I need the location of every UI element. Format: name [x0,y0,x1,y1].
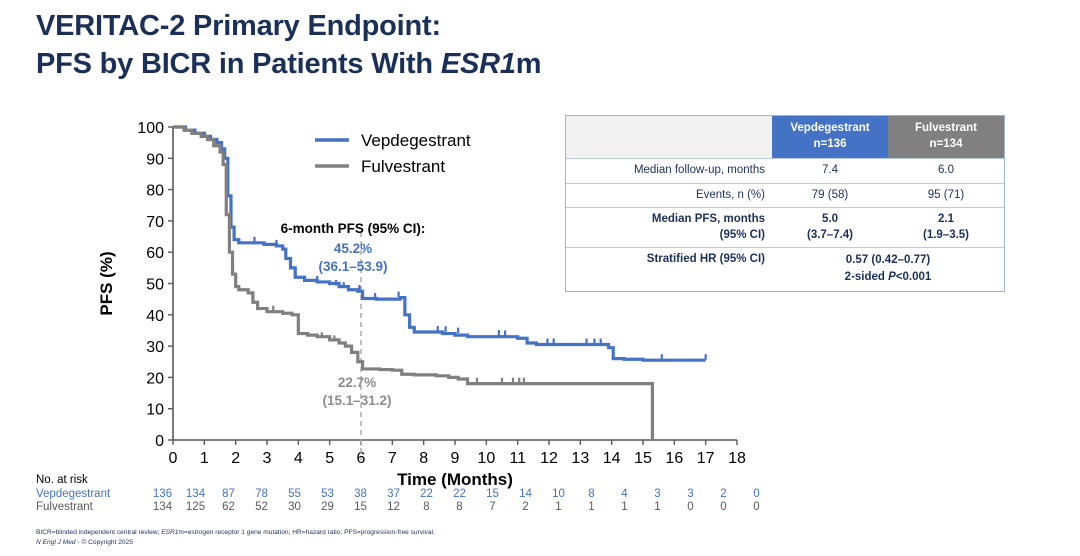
risk-value: 30 [278,501,311,513]
row-label-median-pfs-line2: (95% CI) [720,229,765,241]
risk-value: 53 [311,488,344,500]
p-value-italic: P [888,271,896,283]
row-label-median-pfs-line1: Median PFS, months [652,213,765,225]
risk-value: 2 [509,501,542,513]
y-tick-label: 20 [146,370,164,387]
y-axis-label: PFS (%) [97,251,116,315]
number-at-risk-title: No. at risk [36,474,773,486]
risk-value: 125 [179,501,212,513]
footnote-mid: m=estrogen receptor 1 gene mutation; HR=… [178,529,434,536]
risk-value: 12 [377,501,410,513]
risk-value: 62 [212,501,245,513]
risk-value: 15 [476,488,509,500]
risk-value: 15 [344,501,377,513]
legend-label-vepdegestrant: Vepdegestrant [361,131,471,150]
risk-value: 22 [443,488,476,500]
risk-value: 8 [410,501,443,513]
ful-six-month-value: 22.7% [338,375,376,390]
x-tick-label: 7 [388,450,397,467]
risk-value: 3 [641,488,674,500]
x-tick-label: 12 [540,450,558,467]
risk-value: 8 [443,501,476,513]
x-tick-label: 5 [325,450,334,467]
x-tick-label: 0 [169,450,178,467]
y-tick-label: 0 [155,433,164,450]
row-value-median-followup-ful: 6.0 [888,159,1004,183]
x-tick-label: 14 [603,450,621,467]
y-tick-label: 80 [146,183,164,200]
x-tick-label: 1 [200,450,209,467]
vep-six-month-value: 45.2% [334,241,372,256]
summary-header-fulvestrant: Fulvestrant n=134 [888,116,1004,158]
row-label-events: Events, n (%) [566,184,772,208]
row-label-stratified-hr: Stratified HR (95% CI) [566,248,772,291]
vep-header-name: Vepdegestrant [790,122,869,134]
y-tick-label: 90 [146,151,164,168]
risk-value: 1 [641,501,674,513]
row-value-median-pfs-vep: 5.0 (3.7–7.4) [772,208,888,247]
x-tick-label: 3 [263,450,272,467]
risk-value: 29 [311,501,344,513]
risk-row-label-vepdegestrant: Vepdegestrant [36,488,146,500]
y-tick-label: 10 [146,402,164,419]
legend-label-fulvestrant: Fulvestrant [361,157,445,176]
y-tick-label: 30 [146,339,164,356]
risk-value: 0 [707,501,740,513]
risk-value: 37 [377,488,410,500]
risk-value: 134 [146,501,179,513]
median-pfs-vep-ci: (3.7–7.4) [807,229,853,241]
p-value-post: <0.001 [896,271,932,283]
risk-values-fulvestrant: 13412562523029151288721111000 [146,501,773,513]
six-month-pfs-heading: 6-month PFS (95% CI): [281,221,426,236]
risk-value: 2 [707,488,740,500]
risk-value: 10 [542,488,575,500]
x-tick-label: 9 [451,450,460,467]
summary-row-events: Events, n (%) 79 (58) 95 (71) [566,183,1004,208]
risk-row-vepdegestrant: Vepdegestrant 13613487785553383722221514… [36,488,773,501]
risk-value: 14 [509,488,542,500]
row-value-median-followup-vep: 7.4 [772,159,888,183]
row-value-events-ful: 95 (71) [888,184,1004,208]
row-value-stratified-hr: 0.57 (0.42–0.77) 2-sided P<0.001 [772,248,1004,291]
summary-table-header-row: Vepdegestrant n=136 Fulvestrant n=134 [566,116,1004,158]
ful-header-name: Fulvestrant [915,122,977,134]
risk-value: 1 [608,501,641,513]
risk-value: 3 [674,488,707,500]
risk-value: 4 [608,488,641,500]
median-pfs-ful-ci: (1.9–3.5) [923,229,969,241]
x-tick-label: 15 [634,450,652,467]
footnote-pre: BICR=blinded independent central review; [36,529,161,536]
row-label-median-pfs: Median PFS, months (95% CI) [566,208,772,247]
risk-value: 55 [278,488,311,500]
vep-six-month-ci: (36.1–53.9) [318,259,387,274]
risk-value: 78 [245,488,278,500]
number-at-risk-table: No. at risk Vepdegestrant 13613487785553… [36,474,773,514]
summary-header-blank [566,116,772,158]
risk-value: 1 [575,501,608,513]
p-value: 2-sided P<0.001 [845,271,932,283]
risk-value: 1 [542,501,575,513]
summary-row-median-pfs: Median PFS, months (95% CI) 5.0 (3.7–7.4… [566,207,1004,247]
p-value-pre: 2-sided [845,271,888,283]
y-tick-label: 60 [146,245,164,262]
summary-table: Vepdegestrant n=136 Fulvestrant n=134 Me… [565,115,1005,292]
row-value-median-pfs-ful: 2.1 (1.9–3.5) [888,208,1004,247]
hr-value: 0.57 (0.42–0.77) [846,254,930,266]
risk-row-fulvestrant: Fulvestrant 1341256252302915128872111100… [36,501,773,514]
x-tick-label: 18 [728,450,746,467]
risk-row-label-fulvestrant: Fulvestrant [36,501,146,513]
x-tick-label: 16 [665,450,683,467]
y-tick-label: 40 [146,308,164,325]
y-tick-label: 100 [137,120,164,137]
risk-values-vepdegestrant: 1361348778555338372222151410843320 [146,488,773,500]
x-tick-label: 10 [477,450,495,467]
median-pfs-vep: 5.0 [822,213,838,225]
row-value-events-vep: 79 (58) [772,184,888,208]
x-tick-label: 17 [697,450,715,467]
risk-value: 87 [212,488,245,500]
risk-value: 136 [146,488,179,500]
x-tick-label: 4 [294,450,303,467]
x-tick-label: 13 [571,450,589,467]
summary-row-hazard-ratio: Stratified HR (95% CI) 0.57 (0.42–0.77) … [566,247,1004,291]
summary-row-median-followup: Median follow-up, months 7.4 6.0 [566,158,1004,183]
footnote-copyright: - © Copyright 2025 [76,539,133,546]
ful-header-n: n=134 [930,138,963,150]
vep-header-n: n=136 [814,138,847,150]
ful-six-month-ci: (15.1–31.2) [322,393,391,408]
risk-value: 22 [410,488,443,500]
risk-value: 52 [245,501,278,513]
risk-value: 7 [476,501,509,513]
footnote: BICR=blinded independent central review;… [36,528,936,548]
risk-value: 8 [575,488,608,500]
footnote-journal: N Engl J Med [36,539,76,546]
x-tick-label: 11 [509,450,526,467]
risk-value: 134 [179,488,212,500]
footnote-italic-esr1: ESR1 [161,529,178,536]
risk-value: 0 [740,501,773,513]
y-tick-label: 70 [146,214,164,231]
risk-value: 0 [740,488,773,500]
y-tick-label: 50 [146,277,164,294]
median-pfs-ful: 2.1 [938,213,954,225]
x-tick-label: 2 [231,450,240,467]
risk-value: 38 [344,488,377,500]
x-tick-label: 8 [419,450,428,467]
summary-header-vepdegestrant: Vepdegestrant n=136 [772,116,888,158]
risk-value: 0 [674,501,707,513]
row-label-median-followup: Median follow-up, months [566,159,772,183]
